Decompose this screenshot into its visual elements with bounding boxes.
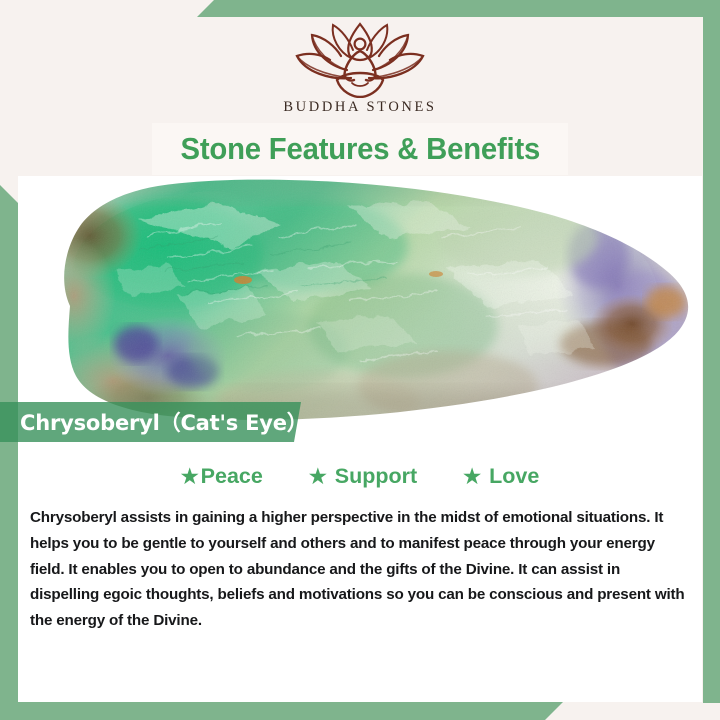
- lotus-meditation-icon: [275, 18, 445, 98]
- benefit-support-label: Support: [335, 464, 417, 489]
- benefit-love: ★ Love: [463, 464, 539, 489]
- frame-right-bar: [703, 0, 720, 703]
- benefit-love-label: Love: [489, 464, 539, 489]
- benefits-row: ★ Peace ★ Support ★ Love: [18, 464, 702, 489]
- benefit-peace-label: Peace: [201, 464, 263, 489]
- brand-name: BUDDHA STONES: [283, 99, 436, 116]
- stone-info-poster: BUDDHA STONES Stone Features & Benefits: [0, 0, 720, 720]
- stone-name-badge: Chrysoberyl（Cat's Eye）: [0, 402, 301, 442]
- star-icon: ★: [309, 467, 327, 487]
- frame-bottom-bar: [0, 702, 563, 720]
- brand-logo-block: BUDDHA STONES: [0, 18, 720, 116]
- benefit-support: ★ Support: [309, 464, 417, 489]
- stone-name-label: Chrysoberyl（Cat's Eye）: [0, 407, 308, 437]
- stone-description: Chrysoberyl assists in gaining a higher …: [30, 505, 692, 634]
- frame-top-bar: [197, 0, 720, 17]
- page-title: Stone Features & Benefits: [180, 132, 540, 167]
- star-icon: ★: [463, 467, 481, 487]
- green-chrysoberyl-crystal-specimen: [18, 176, 702, 431]
- frame-left-bar: [0, 185, 18, 702]
- benefit-peace: ★ Peace: [181, 464, 263, 489]
- title-ribbon: Stone Features & Benefits: [152, 123, 568, 175]
- star-icon: ★: [181, 467, 199, 487]
